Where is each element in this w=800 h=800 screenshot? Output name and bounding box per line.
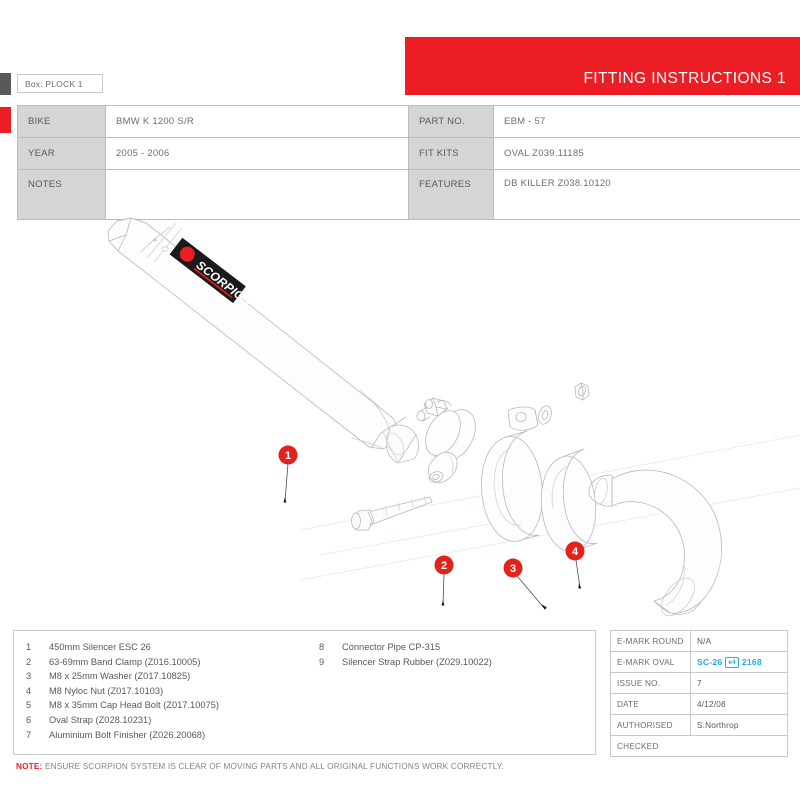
part-label: Connector Pipe CP-315 — [342, 640, 440, 655]
callout-2: 2 — [435, 556, 454, 606]
note-prefix: NOTE: — [16, 762, 42, 771]
issue-no-key: ISSUE NO. — [611, 673, 691, 694]
part-label: Aluminium Bolt Finisher (Z026.20068) — [49, 728, 205, 743]
part-label: M8 x 35mm Cap Head Bolt (Z017.10075) — [49, 698, 219, 713]
part-number: 3 — [26, 669, 49, 684]
cap-head-bolt — [352, 496, 433, 530]
part-number: 7 — [26, 728, 49, 743]
part-number: 2 — [26, 655, 49, 670]
list-item: 2 63-69mm Band Clamp (Z016.10005) — [26, 655, 219, 670]
year-key: YEAR — [18, 138, 106, 170]
box-tab-marker — [0, 73, 11, 95]
footer-note: NOTE: ENSURE SCORPION SYSTEM IS CLEAR OF… — [16, 762, 504, 771]
part-label: Silencer Strap Rubber (Z029.10022) — [342, 655, 492, 670]
e-mark-badge-icon: e4 — [725, 657, 739, 668]
silencer-body — [108, 218, 418, 463]
part-number: 4 — [26, 684, 49, 699]
part-number: 6 — [26, 713, 49, 728]
svg-text:1: 1 — [285, 450, 291, 462]
header-banner: FITTING INSTRUCTIONS 1 — [405, 37, 800, 95]
list-item: 9 Silencer Strap Rubber (Z029.10022) — [319, 655, 492, 670]
box-label: Box: PLOCK 1 — [17, 74, 103, 93]
part-label: M8 x 25mm Washer (Z017.10825) — [49, 669, 190, 684]
part-label: 450mm Silencer ESC 26 — [49, 640, 151, 655]
part-number: 5 — [26, 698, 49, 713]
part-label: M8 Nyloc Nut (Z017.10103) — [49, 684, 163, 699]
page-title: FITTING INSTRUCTIONS 1 — [583, 70, 786, 88]
list-item: 4 M8 Nyloc Nut (Z017.10103) — [26, 684, 219, 699]
table-row: ISSUE NO. 7 — [611, 673, 788, 694]
part-number: 1 — [26, 640, 49, 655]
fit-kits-value: OVAL Z039.11185 — [494, 138, 800, 170]
authorised-value: S.Northrop — [691, 715, 788, 736]
part-no-value: EBM - 57 — [494, 106, 800, 138]
emark-round-value: N/A — [691, 631, 788, 652]
emark-round-key: E-MARK ROUND — [611, 631, 691, 652]
specification-table: BIKE BMW K 1200 S/R PART NO. EBM - 57 YE… — [17, 105, 800, 220]
bike-key: BIKE — [18, 106, 106, 138]
list-item: 1 450mm Silencer ESC 26 — [26, 640, 219, 655]
table-row: BIKE BMW K 1200 S/R PART NO. EBM - 57 — [18, 106, 800, 138]
table-row: AUTHORISED S.Northrop — [611, 715, 788, 736]
fit-kits-key: FIT KITS — [409, 138, 494, 170]
strap-rubber — [541, 449, 597, 552]
parts-list-column-2: 8 Connector Pipe CP-315 9 Silencer Strap… — [319, 640, 492, 669]
bike-value: BMW K 1200 S/R — [106, 106, 409, 138]
svg-text:2: 2 — [441, 560, 447, 572]
table-row: DATE 4/12/08 — [611, 694, 788, 715]
note-text: ENSURE SCORPION SYSTEM IS CLEAR OF MOVIN… — [42, 762, 503, 771]
emark-table: E-MARK ROUND N/A E-MARK OVAL SC-26 e4 21… — [610, 630, 788, 757]
list-item: 6 Oval Strap (Z028.10231) — [26, 713, 219, 728]
date-value: 4/12/08 — [691, 694, 788, 715]
emark-oval-value: SC-26 e4 2168 — [691, 652, 788, 673]
oval-strap — [481, 407, 542, 541]
emark-oval-key: E-MARK OVAL — [611, 652, 691, 673]
part-no-key: PART NO. — [409, 106, 494, 138]
parts-list-column-1: 1 450mm Silencer ESC 26 2 63-69mm Band C… — [26, 640, 219, 742]
year-value: 2005 - 2006 — [106, 138, 409, 170]
callout-4: 4 — [566, 542, 585, 589]
checked-key: CHECKED — [611, 736, 788, 757]
svg-text:3: 3 — [510, 563, 516, 575]
table-row: E-MARK ROUND N/A — [611, 631, 788, 652]
box-label-text: Box: PLOCK 1 — [25, 79, 83, 89]
parts-list-panel: 1 450mm Silencer ESC 26 2 63-69mm Band C… — [13, 630, 596, 755]
bolt-finisher — [428, 452, 457, 484]
callout-3: 3 — [504, 559, 547, 610]
list-item: 5 M8 x 35mm Cap Head Bolt (Z017.10075) — [26, 698, 219, 713]
washer — [536, 404, 553, 426]
svg-text:4: 4 — [572, 546, 579, 558]
emark-oval-prefix: SC-26 — [697, 657, 722, 667]
nyloc-nut — [575, 383, 589, 400]
table-row: E-MARK OVAL SC-26 e4 2168 — [611, 652, 788, 673]
list-item: 8 Connector Pipe CP-315 — [319, 640, 492, 655]
bike-row-tab-marker — [0, 107, 11, 133]
callout-1: 1 — [279, 446, 298, 503]
table-row: YEAR 2005 - 2006 FIT KITS OVAL Z039.1118… — [18, 138, 800, 170]
exploded-parts-diagram: SCORPION — [0, 205, 800, 630]
connector-pipe — [589, 470, 722, 622]
part-label: 63-69mm Band Clamp (Z016.10005) — [49, 655, 200, 670]
emark-oval-suffix: 2168 — [742, 657, 762, 667]
part-number: 8 — [319, 640, 342, 655]
part-number: 9 — [319, 655, 342, 670]
part-label: Oval Strap (Z028.10231) — [49, 713, 151, 728]
table-row: CHECKED — [611, 736, 788, 757]
list-item: 7 Aluminium Bolt Finisher (Z026.20068) — [26, 728, 219, 743]
authorised-key: AUTHORISED — [611, 715, 691, 736]
issue-no-value: 7 — [691, 673, 788, 694]
date-key: DATE — [611, 694, 691, 715]
list-item: 3 M8 x 25mm Washer (Z017.10825) — [26, 669, 219, 684]
